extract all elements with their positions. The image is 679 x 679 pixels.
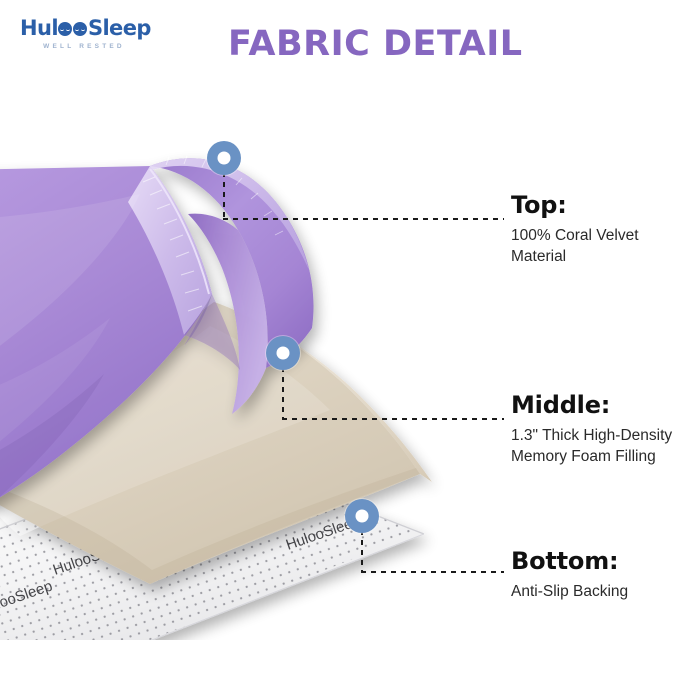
callout-top-heading: Top: <box>511 192 676 218</box>
page-title: FABRIC DETAIL <box>228 24 523 64</box>
marker-top-layer <box>207 141 241 175</box>
callout-top-body: 100% Coral Velvet Material <box>511 226 676 267</box>
callout-middle-body: 1.3" Thick High-Density Memory Foam Fill… <box>511 426 676 467</box>
sleeping-faces-icon <box>58 21 88 38</box>
brand-name-part1: Hul <box>20 18 58 39</box>
callout-bottom: Bottom: Anti-Slip Backing <box>511 548 676 603</box>
callout-top: Top: 100% Coral Velvet Material <box>511 192 676 267</box>
sleeping-face-icon-right <box>73 22 87 36</box>
callout-middle-heading: Middle: <box>511 392 676 418</box>
brand-logo: Hul Sleep WELL RESTED <box>20 18 170 54</box>
marker-middle-layer <box>266 336 300 370</box>
leader-line-top-horizontal <box>223 218 504 220</box>
leader-line-bottom-vertical <box>361 530 363 572</box>
leader-line-middle-horizontal <box>282 418 504 420</box>
leader-line-middle-vertical <box>282 367 284 419</box>
callout-middle: Middle: 1.3" Thick High-Density Memory F… <box>511 392 676 467</box>
leader-line-bottom-horizontal <box>361 571 504 573</box>
callout-bottom-body: Anti-Slip Backing <box>511 582 676 602</box>
brand-wordmark: Hul Sleep <box>20 18 170 39</box>
sleeping-face-icon-left <box>58 22 72 36</box>
fabric-detail-infographic: Hul Sleep WELL RESTED FABRIC DETAIL <box>0 0 679 679</box>
brand-tagline: WELL RESTED <box>20 43 148 50</box>
marker-bottom-layer <box>345 499 379 533</box>
leader-line-top-vertical <box>223 172 225 219</box>
brand-name-part2: Sleep <box>88 18 151 39</box>
callout-bottom-heading: Bottom: <box>511 548 676 574</box>
